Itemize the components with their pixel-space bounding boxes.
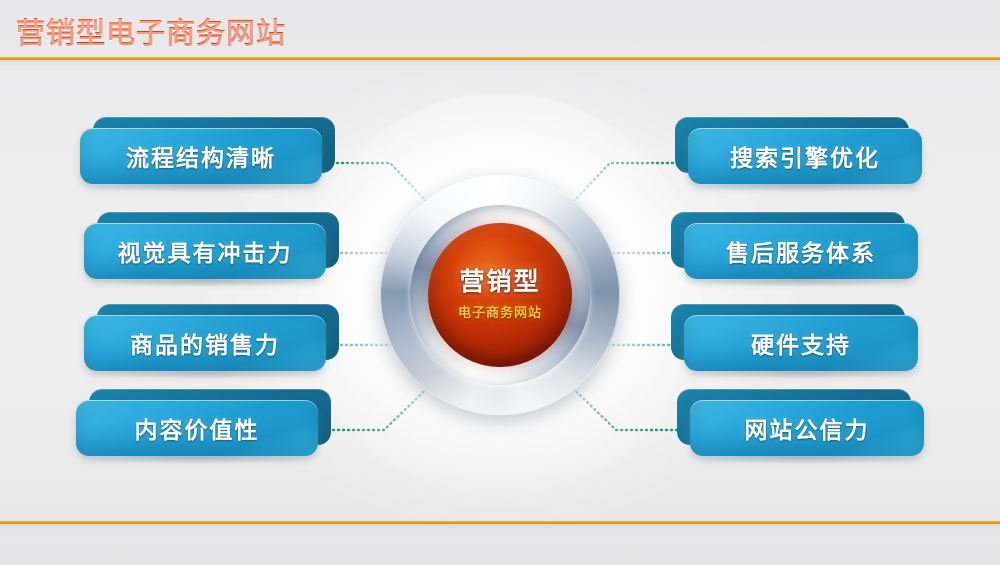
node-left-4[interactable]: 内容价值性: [76, 400, 318, 456]
node-right-1[interactable]: 搜索引擎优化: [688, 128, 922, 184]
node-left-3[interactable]: 商品的销售力: [84, 315, 326, 371]
center-emblem: 营销型 电子商务网站: [358, 153, 642, 437]
node-label: 搜索引擎优化: [688, 139, 922, 173]
node-right-4[interactable]: 网站公信力: [690, 400, 924, 456]
node-label: 内容价值性: [76, 411, 318, 445]
emblem-core-title: 营销型: [459, 269, 540, 297]
node-label: 商品的销售力: [84, 326, 326, 360]
node-left-1[interactable]: 流程结构清晰: [80, 128, 322, 184]
slide-canvas: 营销型电子商务网站 营销型 电子商务网站 流程结构清晰: [0, 0, 1000, 565]
node-label: 网站公信力: [690, 411, 924, 445]
node-label: 流程结构清晰: [80, 139, 322, 173]
node-right-2[interactable]: 售后服务体系: [684, 223, 918, 279]
emblem-core-subtitle: 电子商务网站: [458, 302, 542, 321]
node-right-3[interactable]: 硬件支持: [684, 315, 918, 371]
node-label: 售后服务体系: [684, 234, 918, 268]
node-label: 硬件支持: [684, 326, 918, 360]
emblem-core: 营销型 电子商务网站: [428, 223, 572, 367]
node-left-2[interactable]: 视觉具有冲击力: [84, 223, 326, 279]
node-label: 视觉具有冲击力: [84, 234, 326, 268]
